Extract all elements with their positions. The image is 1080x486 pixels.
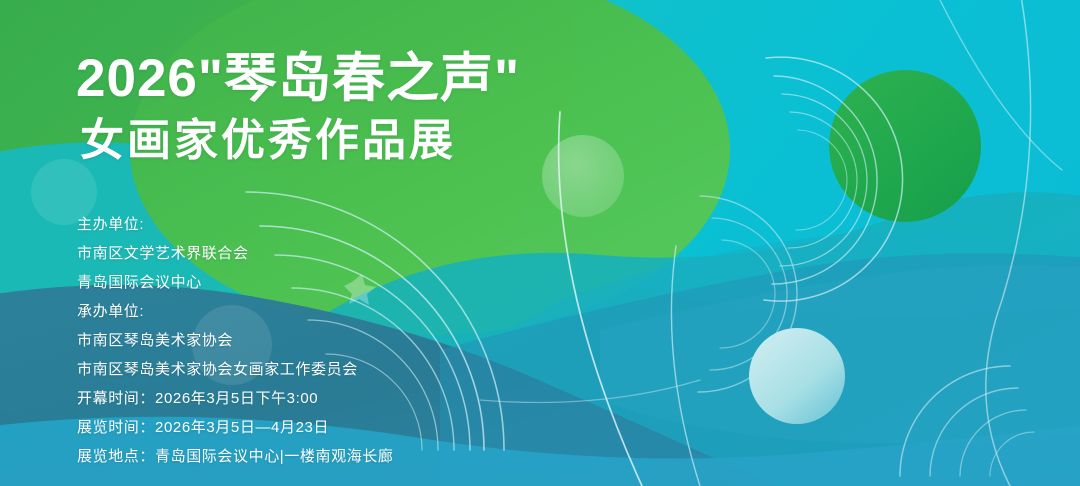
poster-content: 2026"琴岛春之声" 女画家优秀作品展 主办单位: 市南区文学艺术界联合会 青… — [0, 0, 1080, 486]
title-block: 2026"琴岛春之声" 女画家优秀作品展 — [76, 48, 520, 166]
info-block: 主办单位: 市南区文学艺术界联合会 青岛国际会议中心 承办单位: 市南区琴岛美术… — [77, 210, 394, 471]
page-subtitle: 女画家优秀作品展 — [80, 116, 520, 166]
info-line-venue: 展览地点：青岛国际会议中心|一楼南观海长廊 — [77, 442, 394, 471]
info-line-host-2: 市南区琴岛美术家协会女画家工作委员会 — [77, 355, 394, 384]
info-line-organizer-1: 市南区文学艺术界联合会 — [77, 239, 394, 268]
info-line-host-label: 承办单位: — [77, 297, 394, 326]
info-line-exhibition-period: 展览时间：2026年3月5日—4月23日 — [77, 413, 394, 442]
info-line-organizer-2: 青岛国际会议中心 — [77, 268, 394, 297]
info-line-host-1: 市南区琴岛美术家协会 — [77, 326, 394, 355]
info-line-organizer-label: 主办单位: — [77, 210, 394, 239]
info-line-opening-time: 开幕时间：2026年3月5日下午3:00 — [77, 384, 394, 413]
page-title: 2026"琴岛春之声" — [76, 48, 520, 110]
poster-canvas: 2026"琴岛春之声" 女画家优秀作品展 主办单位: 市南区文学艺术界联合会 青… — [0, 0, 1080, 486]
